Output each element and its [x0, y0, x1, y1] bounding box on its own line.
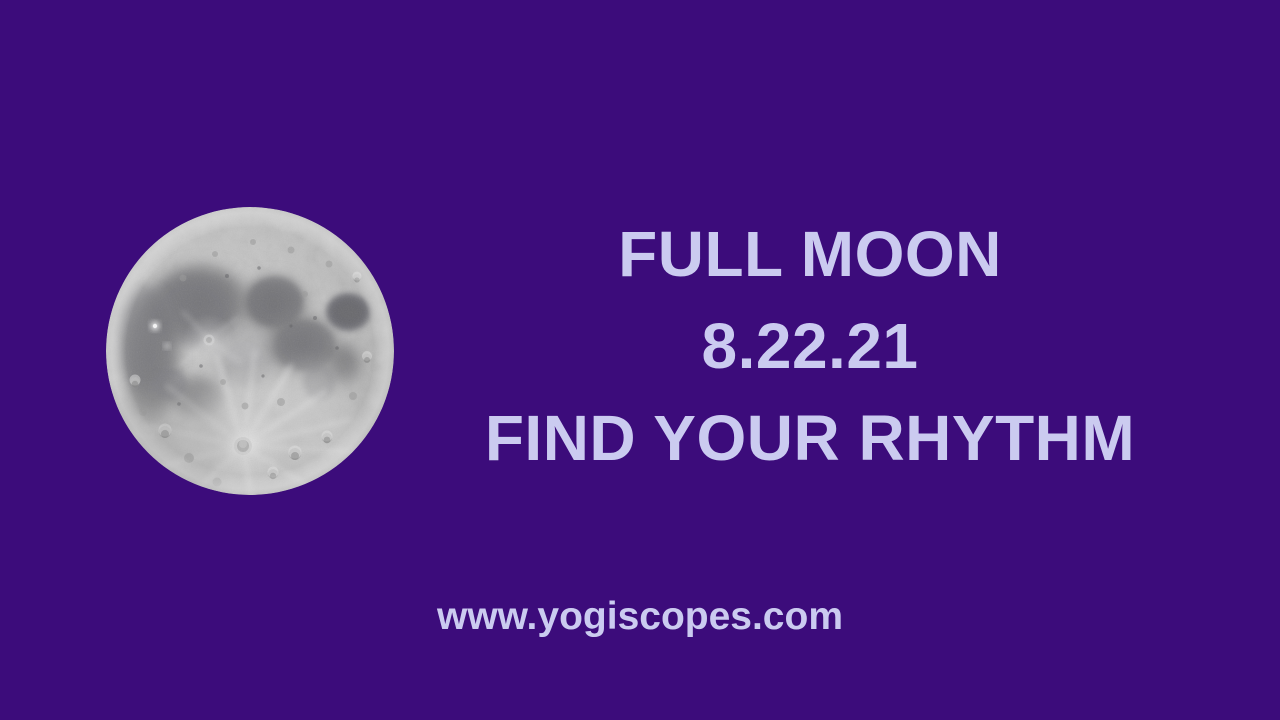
headline-block: FULL MOON 8.22.21 FIND YOUR RHYTHM: [460, 222, 1160, 470]
website-url[interactable]: www.yogiscopes.com: [340, 595, 940, 639]
headline-date: 8.22.21: [460, 314, 1160, 378]
headline-full-moon: FULL MOON: [460, 222, 1160, 286]
poster-canvas: FULL MOON 8.22.21 FIND YOUR RHYTHM www.y…: [0, 0, 1280, 720]
moon-graphic: [105, 206, 395, 496]
headline-tagline: FIND YOUR RHYTHM: [460, 406, 1160, 470]
full-moon-icon: [105, 206, 395, 496]
